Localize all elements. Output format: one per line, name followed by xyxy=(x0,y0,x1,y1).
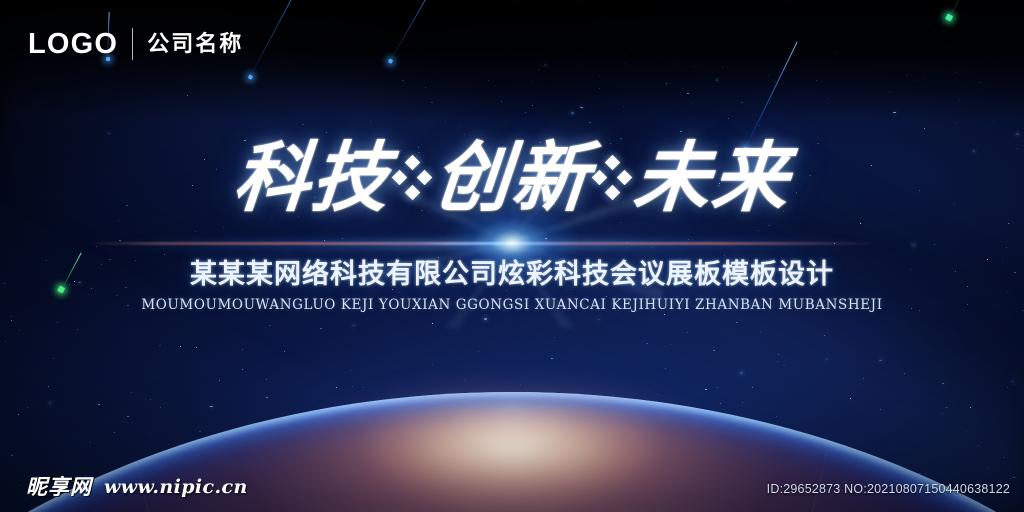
star-particle xyxy=(508,7,511,9)
star-particle xyxy=(694,66,697,68)
company-name[interactable]: 公司名称 xyxy=(147,33,243,55)
star-particle xyxy=(159,345,160,346)
star-particle xyxy=(930,349,931,350)
star-particle xyxy=(718,14,719,15)
star-particle xyxy=(620,138,622,139)
star-particle xyxy=(48,386,49,387)
star-particle xyxy=(180,346,181,347)
star-particle xyxy=(199,431,201,432)
star-particle xyxy=(889,37,890,38)
star-particle xyxy=(692,103,693,104)
star-particle xyxy=(930,19,931,20)
star-particle xyxy=(687,93,688,94)
star-particle xyxy=(860,223,861,224)
star-particle xyxy=(352,325,355,327)
star-particle xyxy=(1011,381,1014,383)
star-particle xyxy=(53,358,55,359)
star-particle xyxy=(918,81,919,82)
star-particle xyxy=(219,380,221,381)
star-particle xyxy=(768,225,769,226)
star-particle xyxy=(269,325,271,326)
star-particle xyxy=(826,359,829,361)
headline-segment-2: 创新 xyxy=(429,140,596,216)
subtitle-chinese: 某某某网络科技有限公司炫彩科技会议展板模板设计 xyxy=(0,258,1024,290)
star-particle xyxy=(774,82,775,83)
star-particle xyxy=(11,316,12,317)
poster-canvas: LOGO 公司名称 科技 创新 未来 某某某网络科技有限公司炫彩科技会议展板模板… xyxy=(0,0,1024,512)
star-particle xyxy=(923,76,924,77)
star-particle xyxy=(946,407,947,408)
star-particle xyxy=(1006,15,1007,16)
star-particle xyxy=(445,121,446,122)
star-particle xyxy=(666,40,668,41)
watermark-site-logo: 昵享网 xyxy=(26,477,92,498)
star-particle xyxy=(1022,15,1023,16)
logo-divider xyxy=(132,28,133,60)
star-particle xyxy=(944,47,947,49)
star-particle xyxy=(11,455,12,456)
star-particle xyxy=(665,85,666,86)
star-particle xyxy=(589,21,590,22)
subtitle-pinyin: MOUMOUMOUWANGLUO KEJI YOUXIAN GGONGSI XU… xyxy=(0,297,1024,313)
star-particle xyxy=(187,95,188,96)
brand-header: LOGO 公司名称 xyxy=(28,28,243,60)
star-particle xyxy=(942,413,943,414)
star-particle xyxy=(510,19,511,20)
star-particle xyxy=(19,330,20,331)
star-particle xyxy=(150,433,151,434)
star-particle xyxy=(953,407,955,408)
star-particle xyxy=(525,112,526,113)
star-particle xyxy=(603,48,604,49)
star-particle xyxy=(966,431,967,432)
star-particle xyxy=(642,42,643,43)
star-particle xyxy=(11,320,12,321)
star-particle xyxy=(402,80,404,81)
star-particle xyxy=(580,107,583,109)
diamond-cluster-icon xyxy=(392,155,432,201)
star-particle xyxy=(599,75,600,76)
star-particle xyxy=(18,414,20,415)
star-particle xyxy=(816,80,817,81)
star-particle xyxy=(868,61,869,62)
star-particle xyxy=(863,378,864,379)
star-particle xyxy=(1014,384,1016,385)
star-particle xyxy=(571,112,574,114)
star-particle xyxy=(311,42,313,43)
star-particle xyxy=(594,21,595,22)
star-particle xyxy=(1006,247,1007,248)
star-particle xyxy=(983,48,984,49)
star-particle xyxy=(114,432,115,433)
star-particle xyxy=(993,120,994,121)
star-particle xyxy=(678,62,679,63)
star-particle xyxy=(889,92,890,93)
star-particle xyxy=(1007,387,1009,388)
star-particle xyxy=(49,402,52,404)
star-particle xyxy=(108,133,111,135)
star-particle xyxy=(580,62,581,63)
star-particle xyxy=(1003,457,1004,458)
star-particle xyxy=(24,499,26,500)
star-particle xyxy=(370,121,371,122)
star-particle xyxy=(781,9,782,10)
star-particle xyxy=(879,360,882,362)
star-particle xyxy=(759,125,760,126)
star-particle xyxy=(425,87,426,88)
meteor-head xyxy=(248,74,253,79)
star-particle xyxy=(771,55,772,56)
meteor-head xyxy=(945,14,953,22)
star-particle xyxy=(725,256,727,257)
star-particle xyxy=(863,422,865,423)
star-particle xyxy=(987,468,988,469)
star-particle xyxy=(850,398,852,399)
star-particle xyxy=(835,52,838,54)
star-particle xyxy=(666,83,667,84)
star-particle xyxy=(488,80,489,81)
star-particle xyxy=(98,404,99,405)
watermark: 昵享网 www.nipic.cn xyxy=(26,477,248,498)
star-particle xyxy=(955,123,957,124)
star-particle xyxy=(77,329,78,330)
star-particle xyxy=(223,227,224,228)
star-particle xyxy=(131,392,132,393)
star-particle xyxy=(586,28,587,29)
star-particle xyxy=(623,48,625,49)
headline: 科技 创新 未来 xyxy=(229,140,796,216)
star-particle xyxy=(880,409,881,410)
star-particle xyxy=(210,406,213,408)
star-particle xyxy=(821,31,822,32)
meteor-trail xyxy=(389,0,455,62)
star-particle xyxy=(538,69,539,70)
star-particle xyxy=(624,63,627,65)
headline-container: 科技 创新 未来 xyxy=(0,140,1024,216)
star-particle xyxy=(1013,477,1015,478)
star-particle xyxy=(510,18,511,19)
star-particle xyxy=(623,106,624,107)
star-particle xyxy=(904,373,905,374)
star-particle xyxy=(925,473,926,474)
star-particle xyxy=(1012,39,1013,40)
star-particle xyxy=(94,12,96,13)
headline-segment-3: 未来 xyxy=(629,140,796,216)
star-particle xyxy=(932,20,933,21)
star-particle xyxy=(893,112,896,114)
star-particle xyxy=(664,314,665,315)
star-particle xyxy=(431,102,433,103)
star-particle xyxy=(758,230,759,231)
star-particle xyxy=(723,11,725,12)
star-particle xyxy=(604,17,605,18)
star-particle xyxy=(629,48,631,49)
star-particle xyxy=(459,127,460,128)
star-particle xyxy=(682,88,683,89)
star-particle xyxy=(828,98,829,99)
star-particle xyxy=(27,407,28,408)
star-particle xyxy=(1008,223,1009,224)
star-particle xyxy=(1016,133,1019,135)
star-particle xyxy=(728,118,730,119)
asset-id-string: ID:29652873 NO:20210807150440638122 xyxy=(767,482,1010,496)
star-particle xyxy=(955,72,958,74)
star-particle xyxy=(5,341,6,342)
star-particle xyxy=(660,12,661,13)
star-particle xyxy=(716,79,719,81)
star-particle xyxy=(579,64,580,65)
star-particle xyxy=(963,66,964,67)
star-particle xyxy=(57,322,58,323)
star-particle xyxy=(970,407,971,408)
star-particle xyxy=(1010,478,1012,479)
star-particle xyxy=(19,485,20,486)
star-particle xyxy=(160,407,161,408)
star-particle xyxy=(599,88,600,89)
planet-sunrise-glow xyxy=(232,330,792,512)
star-particle xyxy=(544,64,547,66)
star-particle xyxy=(912,244,915,246)
star-particle xyxy=(460,22,461,23)
star-particle xyxy=(195,231,196,232)
watermark-site-url[interactable]: www.nipic.cn xyxy=(104,478,248,497)
star-particle xyxy=(769,103,770,104)
subtitle-container: 某某某网络科技有限公司炫彩科技会议展板模板设计 MOUMOUMOUWANGLUO… xyxy=(0,258,1024,313)
star-particle xyxy=(127,416,128,417)
star-particle xyxy=(983,45,984,46)
star-particle xyxy=(96,246,97,247)
star-particle xyxy=(648,49,649,50)
star-particle xyxy=(196,347,197,348)
star-particle xyxy=(501,101,502,102)
star-particle xyxy=(768,75,769,76)
star-particle xyxy=(168,444,169,445)
star-particle xyxy=(741,102,743,103)
diamond-cluster-icon xyxy=(592,155,632,201)
star-particle xyxy=(582,108,583,109)
star-particle xyxy=(722,67,723,68)
star-particle xyxy=(899,406,900,407)
star-particle xyxy=(927,51,929,52)
star-particle xyxy=(924,128,925,129)
meteor-trail xyxy=(249,0,325,78)
star-particle xyxy=(89,442,90,443)
star-particle xyxy=(342,238,343,239)
star-particle xyxy=(736,322,738,323)
star-particle xyxy=(934,244,936,245)
star-particle xyxy=(724,255,726,256)
star-particle xyxy=(150,399,151,400)
star-particle xyxy=(978,445,979,446)
star-particle xyxy=(959,99,960,100)
meteor-trail xyxy=(949,0,998,18)
top-dark-band xyxy=(0,0,1024,120)
star-particle xyxy=(942,383,945,385)
star-particle xyxy=(487,6,488,7)
star-particle xyxy=(302,124,304,125)
star-particle xyxy=(164,254,166,255)
star-particle xyxy=(906,75,908,76)
meteor-head xyxy=(388,58,393,63)
logo-text[interactable]: LOGO xyxy=(28,30,118,59)
star-particle xyxy=(118,220,119,221)
star-particle xyxy=(824,335,825,336)
star-particle xyxy=(532,105,533,106)
star-particle xyxy=(979,82,980,83)
star-particle xyxy=(589,122,591,123)
star-particle xyxy=(532,81,533,82)
headline-segment-1: 科技 xyxy=(229,140,396,216)
star-particle xyxy=(999,61,1001,62)
